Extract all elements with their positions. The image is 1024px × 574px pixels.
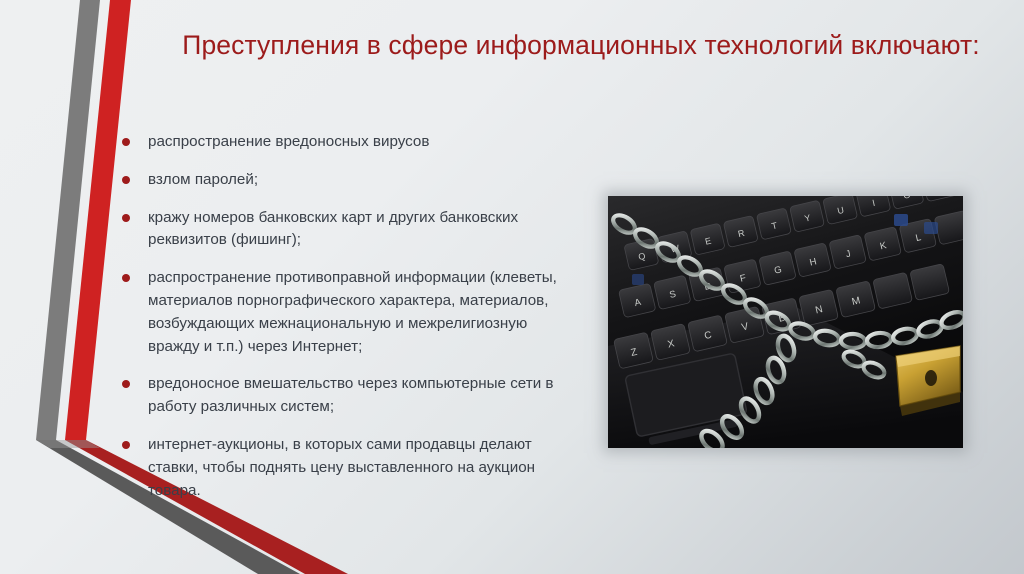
list-item-text: кражу номеров банковских карт и других б… (148, 207, 578, 253)
list-item-text: интернет-аукционы, в которых сами продав… (148, 434, 578, 502)
list-item: распространение противоправной информаци… (122, 267, 590, 358)
list-item: распространение вредоносных вирусов (122, 131, 590, 154)
page-title: Преступления в сфере информационных техн… (176, 28, 986, 63)
list-item-text: распространение противоправной информаци… (148, 267, 578, 358)
stripe-bend-shadow (36, 440, 100, 448)
bullet-dot-icon (122, 441, 130, 449)
list-item: кражу номеров банковских карт и других б… (122, 207, 590, 253)
list-item: вредоносное вмешательство через компьюте… (122, 373, 590, 419)
bullet-dot-icon (122, 138, 130, 146)
bullet-dot-icon (122, 274, 130, 282)
bullet-dot-icon (122, 380, 130, 388)
chained-laptop-keyboard-image: QWE RTY UIO P (608, 196, 963, 448)
bullet-dot-icon (122, 176, 130, 184)
presentation-slide: Преступления в сфере информационных техн… (0, 0, 1024, 574)
stripe-gray-upper (36, 0, 100, 440)
list-item-text: вредоносное вмешательство через компьюте… (148, 373, 578, 419)
bullet-list: распространение вредоносных вирусов взло… (122, 131, 590, 502)
list-item: интернет-аукционы, в которых сами продав… (122, 434, 590, 502)
list-item-text: распространение вредоносных вирусов (148, 131, 429, 154)
list-item: взлом паролей; (122, 169, 590, 192)
bullet-dot-icon (122, 214, 130, 222)
slide-photo: QWE RTY UIO P (608, 196, 963, 448)
list-item-text: взлом паролей; (148, 169, 258, 192)
